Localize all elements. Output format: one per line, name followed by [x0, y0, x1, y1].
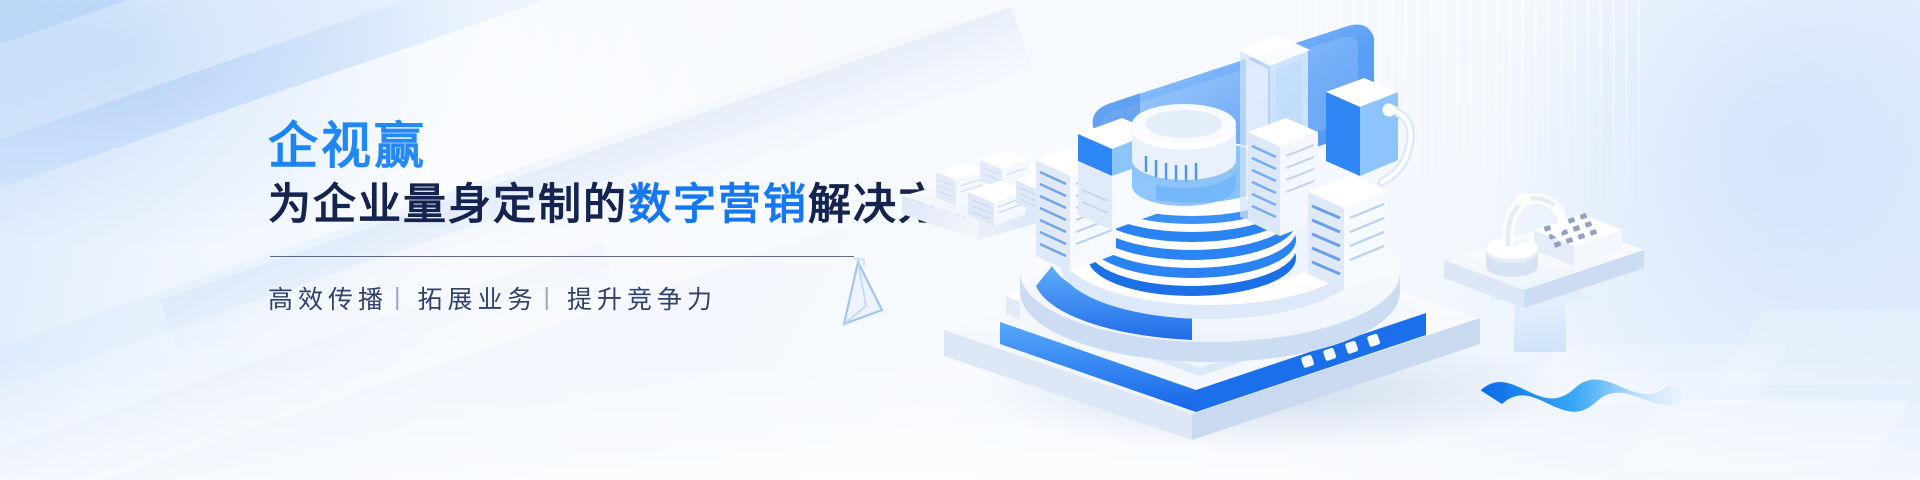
tagline: 高效传播 | 拓展业务 | 提升竞争力: [268, 280, 908, 316]
tagline-separator-0: |: [394, 283, 406, 312]
isometric-illustration: [840, 0, 1920, 480]
tower-mid: [1248, 118, 1318, 236]
robot-arm-tile: [1444, 193, 1644, 308]
tower-right-white: [1308, 175, 1388, 290]
tagline-item-2: 提升竞争力: [567, 280, 717, 316]
drum-module: [1132, 104, 1236, 206]
headline: 为企业量身定制的数字营销解决方案: [268, 180, 908, 231]
headline-highlight: 数字营销: [628, 181, 808, 229]
illustration-svg: [840, 0, 1920, 480]
tagline-separator-1: |: [544, 283, 556, 312]
tagline-item-1: 拓展业务: [418, 280, 538, 316]
tagline-item-0: 高效传播: [268, 280, 388, 316]
headline-lead: 为企业量身定制的: [268, 181, 628, 229]
brand-title: 企视赢: [268, 118, 908, 174]
divider-rule: [270, 256, 854, 257]
wire-triangle: [844, 258, 882, 324]
hero-copy: 企视赢 为企业量身定制的数字营销解决方案 高效传播 | 拓展业务 | 提升竞争力: [268, 118, 908, 316]
hero-banner: 企视赢 为企业量身定制的数字营销解决方案 高效传播 | 拓展业务 | 提升竞争力: [0, 0, 1920, 480]
tower-right-blue: [1326, 78, 1411, 182]
